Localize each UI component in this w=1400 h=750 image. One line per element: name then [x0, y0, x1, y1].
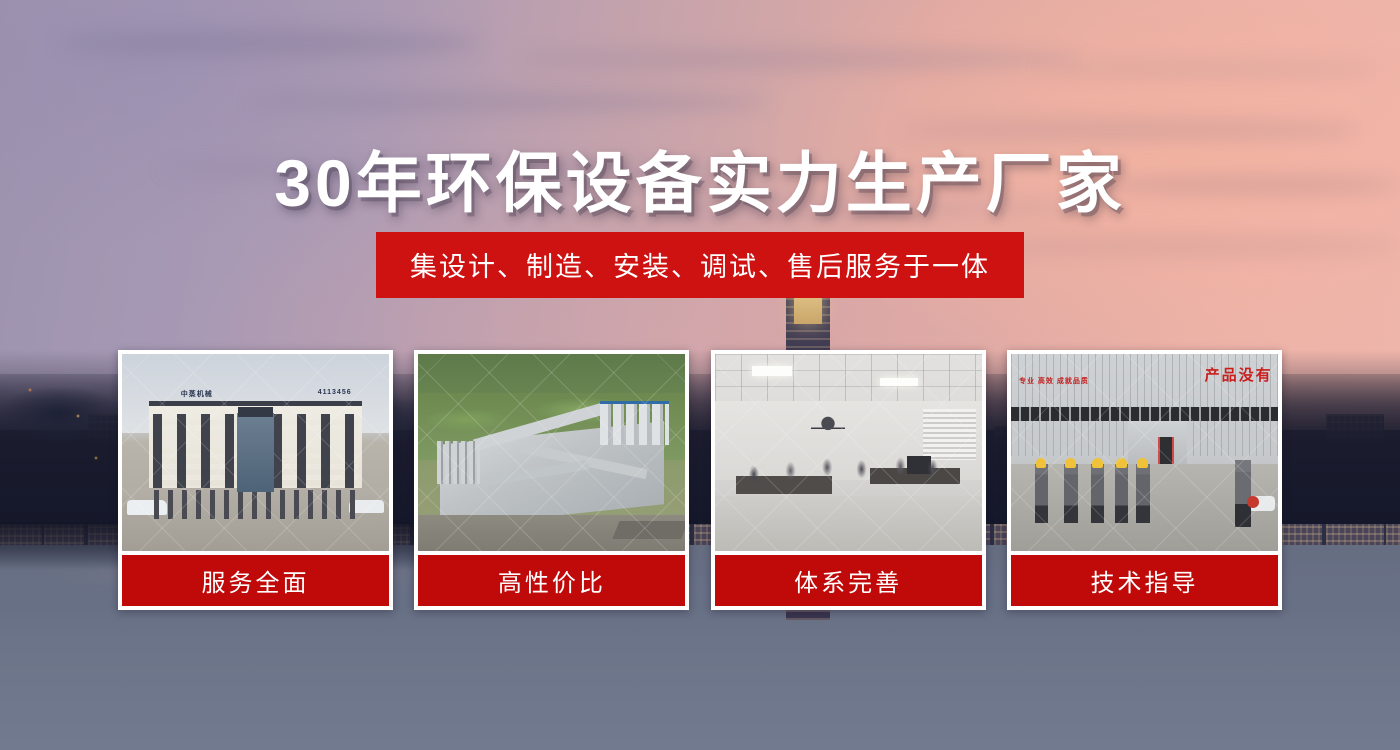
glass-entrance [237, 413, 274, 492]
preheater-stacks [437, 441, 480, 484]
office-floor [715, 496, 982, 551]
factory-slogan-large: 产品没有 [1205, 364, 1273, 385]
factory-workers-photo: 产品没有 专业 高效 成就品质 [1011, 354, 1278, 551]
red-helmet-icon [1247, 496, 1259, 508]
ceiling-light [880, 378, 917, 387]
building-phone-text: 4113456 [318, 389, 352, 396]
feature-card[interactable]: 体系完善 [711, 350, 986, 610]
cloud-streak [1040, 60, 1380, 78]
hardhat-icon [1137, 458, 1148, 468]
subtitle-bar: 集设计、制造、安装、调试、售后服务于一体 [376, 232, 1024, 298]
worker [1035, 464, 1048, 523]
worker [1091, 464, 1104, 523]
cloud-streak [60, 30, 480, 56]
feature-card-label: 技术指导 [1011, 555, 1278, 606]
supervisor [1235, 460, 1251, 527]
entrance-roof [238, 407, 273, 417]
building-sign-text: 中蒸机械 [181, 389, 213, 399]
feature-card-label: 服务全面 [122, 555, 389, 606]
ceiling-light [752, 366, 792, 376]
access-road [612, 521, 685, 539]
feature-card-label: 高性价比 [418, 555, 685, 606]
factory-slogan-small: 专业 高效 成就品质 [1019, 376, 1089, 386]
page-title: 30年环保设备实力生产厂家 [0, 130, 1400, 226]
feature-card-label: 体系完善 [715, 555, 982, 606]
office-staff [731, 448, 961, 491]
factory-window-row [1011, 407, 1278, 421]
office-interior-photo [715, 354, 982, 551]
worker [1064, 464, 1077, 523]
worker [1136, 464, 1149, 523]
hardhat-icon [1092, 458, 1103, 468]
hardhat-icon [1036, 458, 1047, 468]
cloud-streak [250, 92, 770, 112]
company-headquarters-photo: 中蒸机械 4113456 [122, 354, 389, 551]
hardhat-icon [1116, 458, 1127, 468]
feature-card-list: 中蒸机械 4113456 服务全面 [118, 350, 1282, 610]
feature-card[interactable]: 产品没有 专业 高效 成就品质 技 [1007, 350, 1282, 610]
feature-card[interactable]: 中蒸机械 4113456 服务全面 [118, 350, 393, 610]
promo-banner: 30年环保设备实力生产厂家 集设计、制造、安装、调试、售后服务于一体 中蒸机械 … [0, 0, 1400, 750]
aerial-production-plant-photo [418, 354, 685, 551]
ceiling-tiles [715, 354, 982, 405]
cloud-streak [520, 48, 1080, 70]
feature-card[interactable]: 高性价比 [414, 350, 689, 610]
staff-lineup [154, 490, 357, 520]
wall-decal [811, 413, 846, 439]
hardhat-icon [1065, 458, 1076, 468]
storage-silos [600, 401, 669, 444]
worker [1115, 464, 1128, 523]
